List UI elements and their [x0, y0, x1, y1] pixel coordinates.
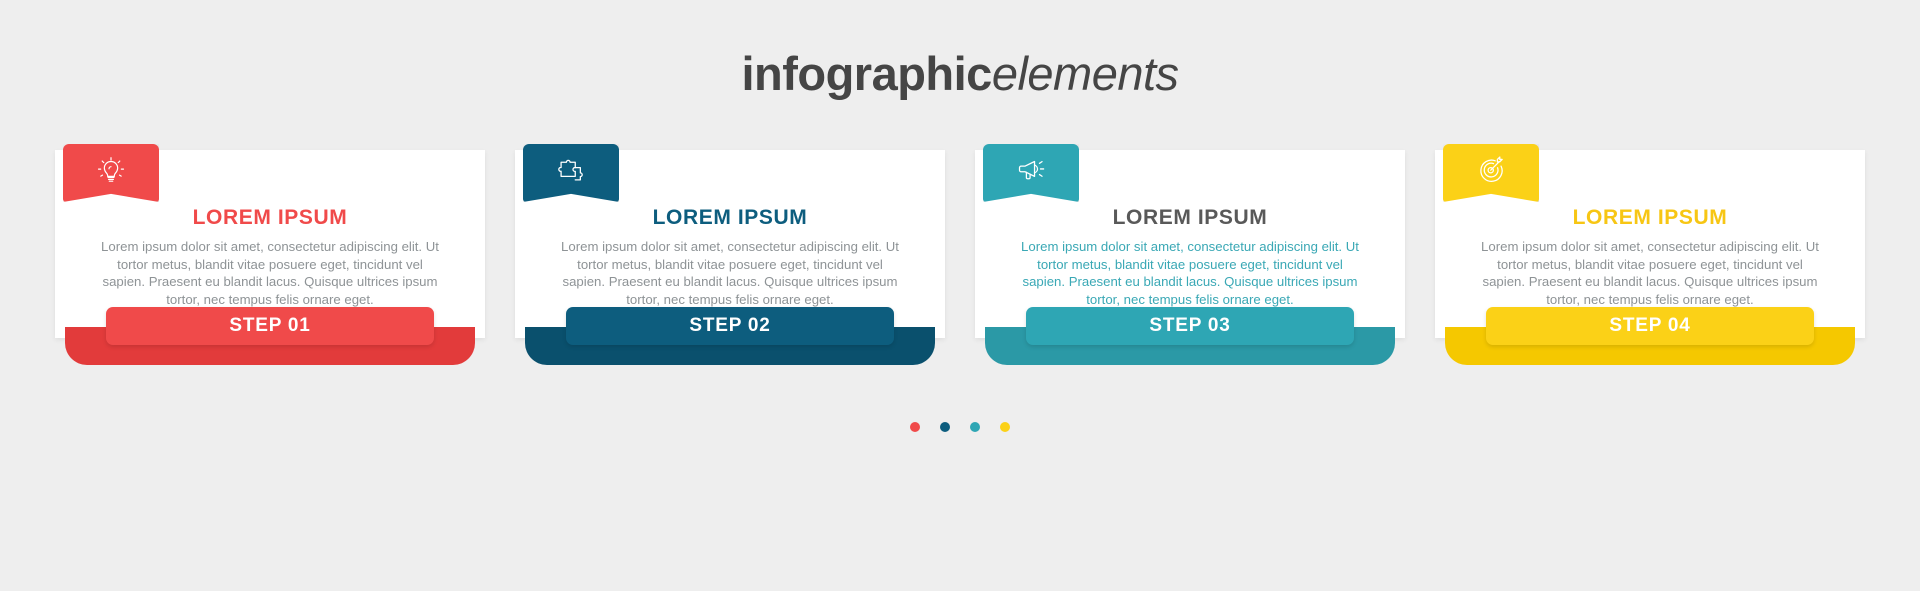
card-heading: LOREM IPSUM [975, 206, 1405, 230]
card-ribbon-tab[interactable] [63, 144, 159, 202]
infographic-card-3: LOREM IPSUM Lorem ipsum dolor sit amet, … [975, 150, 1405, 365]
infographic-canvas: infographicelements LOREM IPSUM Lorem ip… [0, 0, 1920, 591]
infographic-card-4: LOREM IPSUM Lorem ipsum dolor sit amet, … [1435, 150, 1865, 365]
card-heading: LOREM IPSUM [1435, 206, 1865, 230]
puzzle-icon [554, 153, 588, 187]
target-icon [1474, 153, 1508, 187]
card-step-area: STEP 03 [975, 307, 1405, 365]
page-title-italic: elements [992, 47, 1179, 100]
page-title: infographicelements [0, 46, 1920, 101]
page-title-bold: infographic [741, 47, 991, 100]
pagination-dot-2[interactable] [940, 422, 950, 432]
step-button[interactable]: STEP 04 [1486, 307, 1814, 345]
step-button[interactable]: STEP 01 [106, 307, 434, 345]
megaphone-icon [1013, 153, 1049, 187]
pagination-dot-1[interactable] [910, 422, 920, 432]
card-body-text: Lorem ipsum dolor sit amet, consectetur … [560, 238, 900, 308]
infographic-card-2: LOREM IPSUM Lorem ipsum dolor sit amet, … [515, 150, 945, 365]
pagination-dots [0, 422, 1920, 432]
card-body-text: Lorem ipsum dolor sit amet, consectetur … [100, 238, 440, 308]
lightbulb-icon [94, 153, 128, 187]
card-ribbon-tab[interactable] [523, 144, 619, 202]
card-body-text: Lorem ipsum dolor sit amet, consectetur … [1480, 238, 1820, 308]
card-heading: LOREM IPSUM [55, 206, 485, 230]
card-ribbon-tab[interactable] [983, 144, 1079, 202]
card-step-area: STEP 02 [515, 307, 945, 365]
card-step-area: STEP 04 [1435, 307, 1865, 365]
cards-row: LOREM IPSUM Lorem ipsum dolor sit amet, … [55, 150, 1865, 365]
card-ribbon-tab[interactable] [1443, 144, 1539, 202]
step-button[interactable]: STEP 02 [566, 307, 894, 345]
pagination-dot-4[interactable] [1000, 422, 1010, 432]
infographic-card-1: LOREM IPSUM Lorem ipsum dolor sit amet, … [55, 150, 485, 365]
step-button[interactable]: STEP 03 [1026, 307, 1354, 345]
card-step-area: STEP 01 [55, 307, 485, 365]
card-body-text: Lorem ipsum dolor sit amet, consectetur … [1020, 238, 1360, 308]
pagination-dot-3[interactable] [970, 422, 980, 432]
card-heading: LOREM IPSUM [515, 206, 945, 230]
